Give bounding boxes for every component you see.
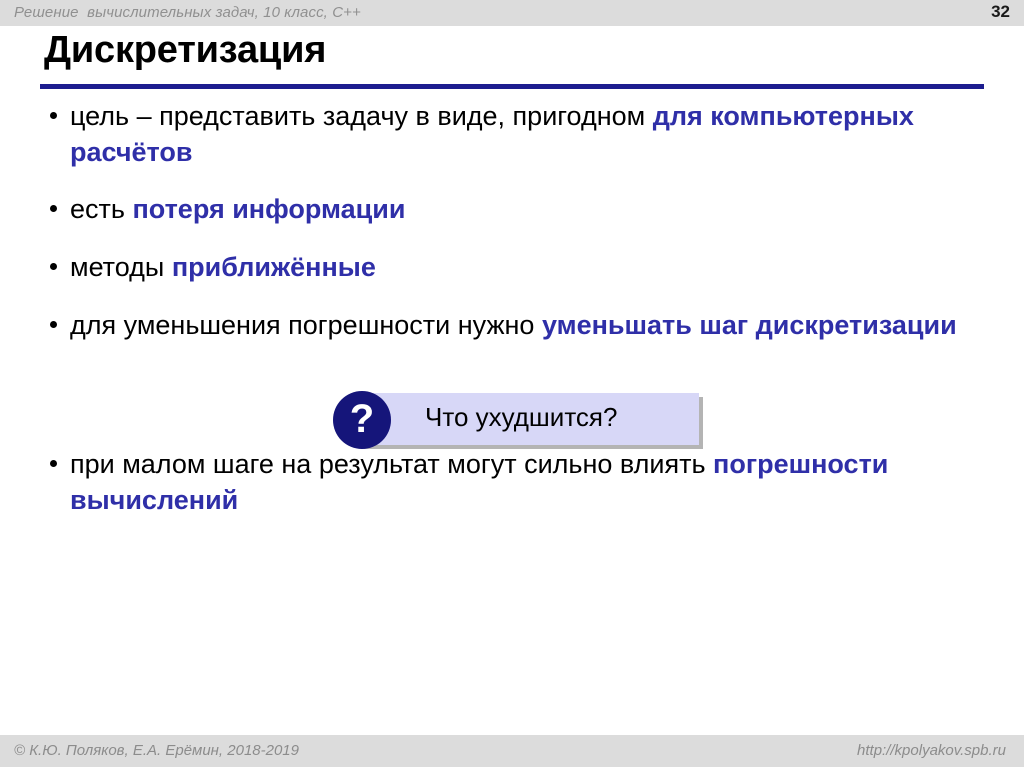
bullet-text-highlight: потеря информации bbox=[132, 194, 405, 224]
page-title: Дискретизация bbox=[44, 30, 326, 71]
list-item: цель – представить задачу в виде, пригод… bbox=[0, 99, 1024, 170]
bullet-text-plain: есть bbox=[70, 194, 132, 224]
bullet-dot-icon bbox=[50, 460, 57, 467]
title-underline-rule bbox=[40, 84, 984, 89]
copyright-text: © К.Ю. Поляков, Е.А. Ерёмин, 2018-2019 bbox=[14, 742, 299, 759]
list-item: есть потеря информации bbox=[0, 192, 1024, 228]
bullet-text-plain: цель – представить задачу в виде, пригод… bbox=[70, 101, 653, 131]
header-band: Решение вычислительных задач, 10 класс, … bbox=[0, 0, 1024, 26]
bullet-list: цель – представить задачу в виде, пригод… bbox=[0, 99, 1024, 540]
bullet-dot-icon bbox=[50, 263, 57, 270]
bullet-text-plain: методы bbox=[70, 252, 172, 282]
list-item: методы приближённые bbox=[0, 250, 1024, 286]
page-number: 32 bbox=[991, 2, 1010, 22]
question-callout: Что ухудшится? ? bbox=[333, 391, 703, 449]
bullet-text-highlight: приближённые bbox=[172, 252, 376, 282]
list-item: для уменьшения погрешности нужно уменьша… bbox=[0, 308, 1024, 344]
bullet-text-plain: для уменьшения погрешности нужно bbox=[70, 310, 542, 340]
bullet-text-plain: при малом шаге на результат могут сильно… bbox=[70, 449, 713, 479]
slide: Решение вычислительных задач, 10 класс, … bbox=[0, 0, 1024, 767]
bullet-dot-icon bbox=[50, 321, 57, 328]
bullet-text-highlight: уменьшать шаг дискретизации bbox=[542, 310, 957, 340]
question-mark-icon: ? bbox=[333, 391, 391, 449]
footer-url[interactable]: http://kpolyakov.spb.ru bbox=[857, 742, 1006, 759]
bullet-dot-icon bbox=[50, 112, 57, 119]
bullet-dot-icon bbox=[50, 205, 57, 212]
callout-question-text: Что ухудшится? bbox=[425, 402, 617, 433]
footer-band: © К.Ю. Поляков, Е.А. Ерёмин, 2018-2019 h… bbox=[0, 735, 1024, 767]
course-title: Решение вычислительных задач, 10 класс, … bbox=[14, 4, 361, 21]
list-item: при малом шаге на результат могут сильно… bbox=[0, 447, 1024, 518]
